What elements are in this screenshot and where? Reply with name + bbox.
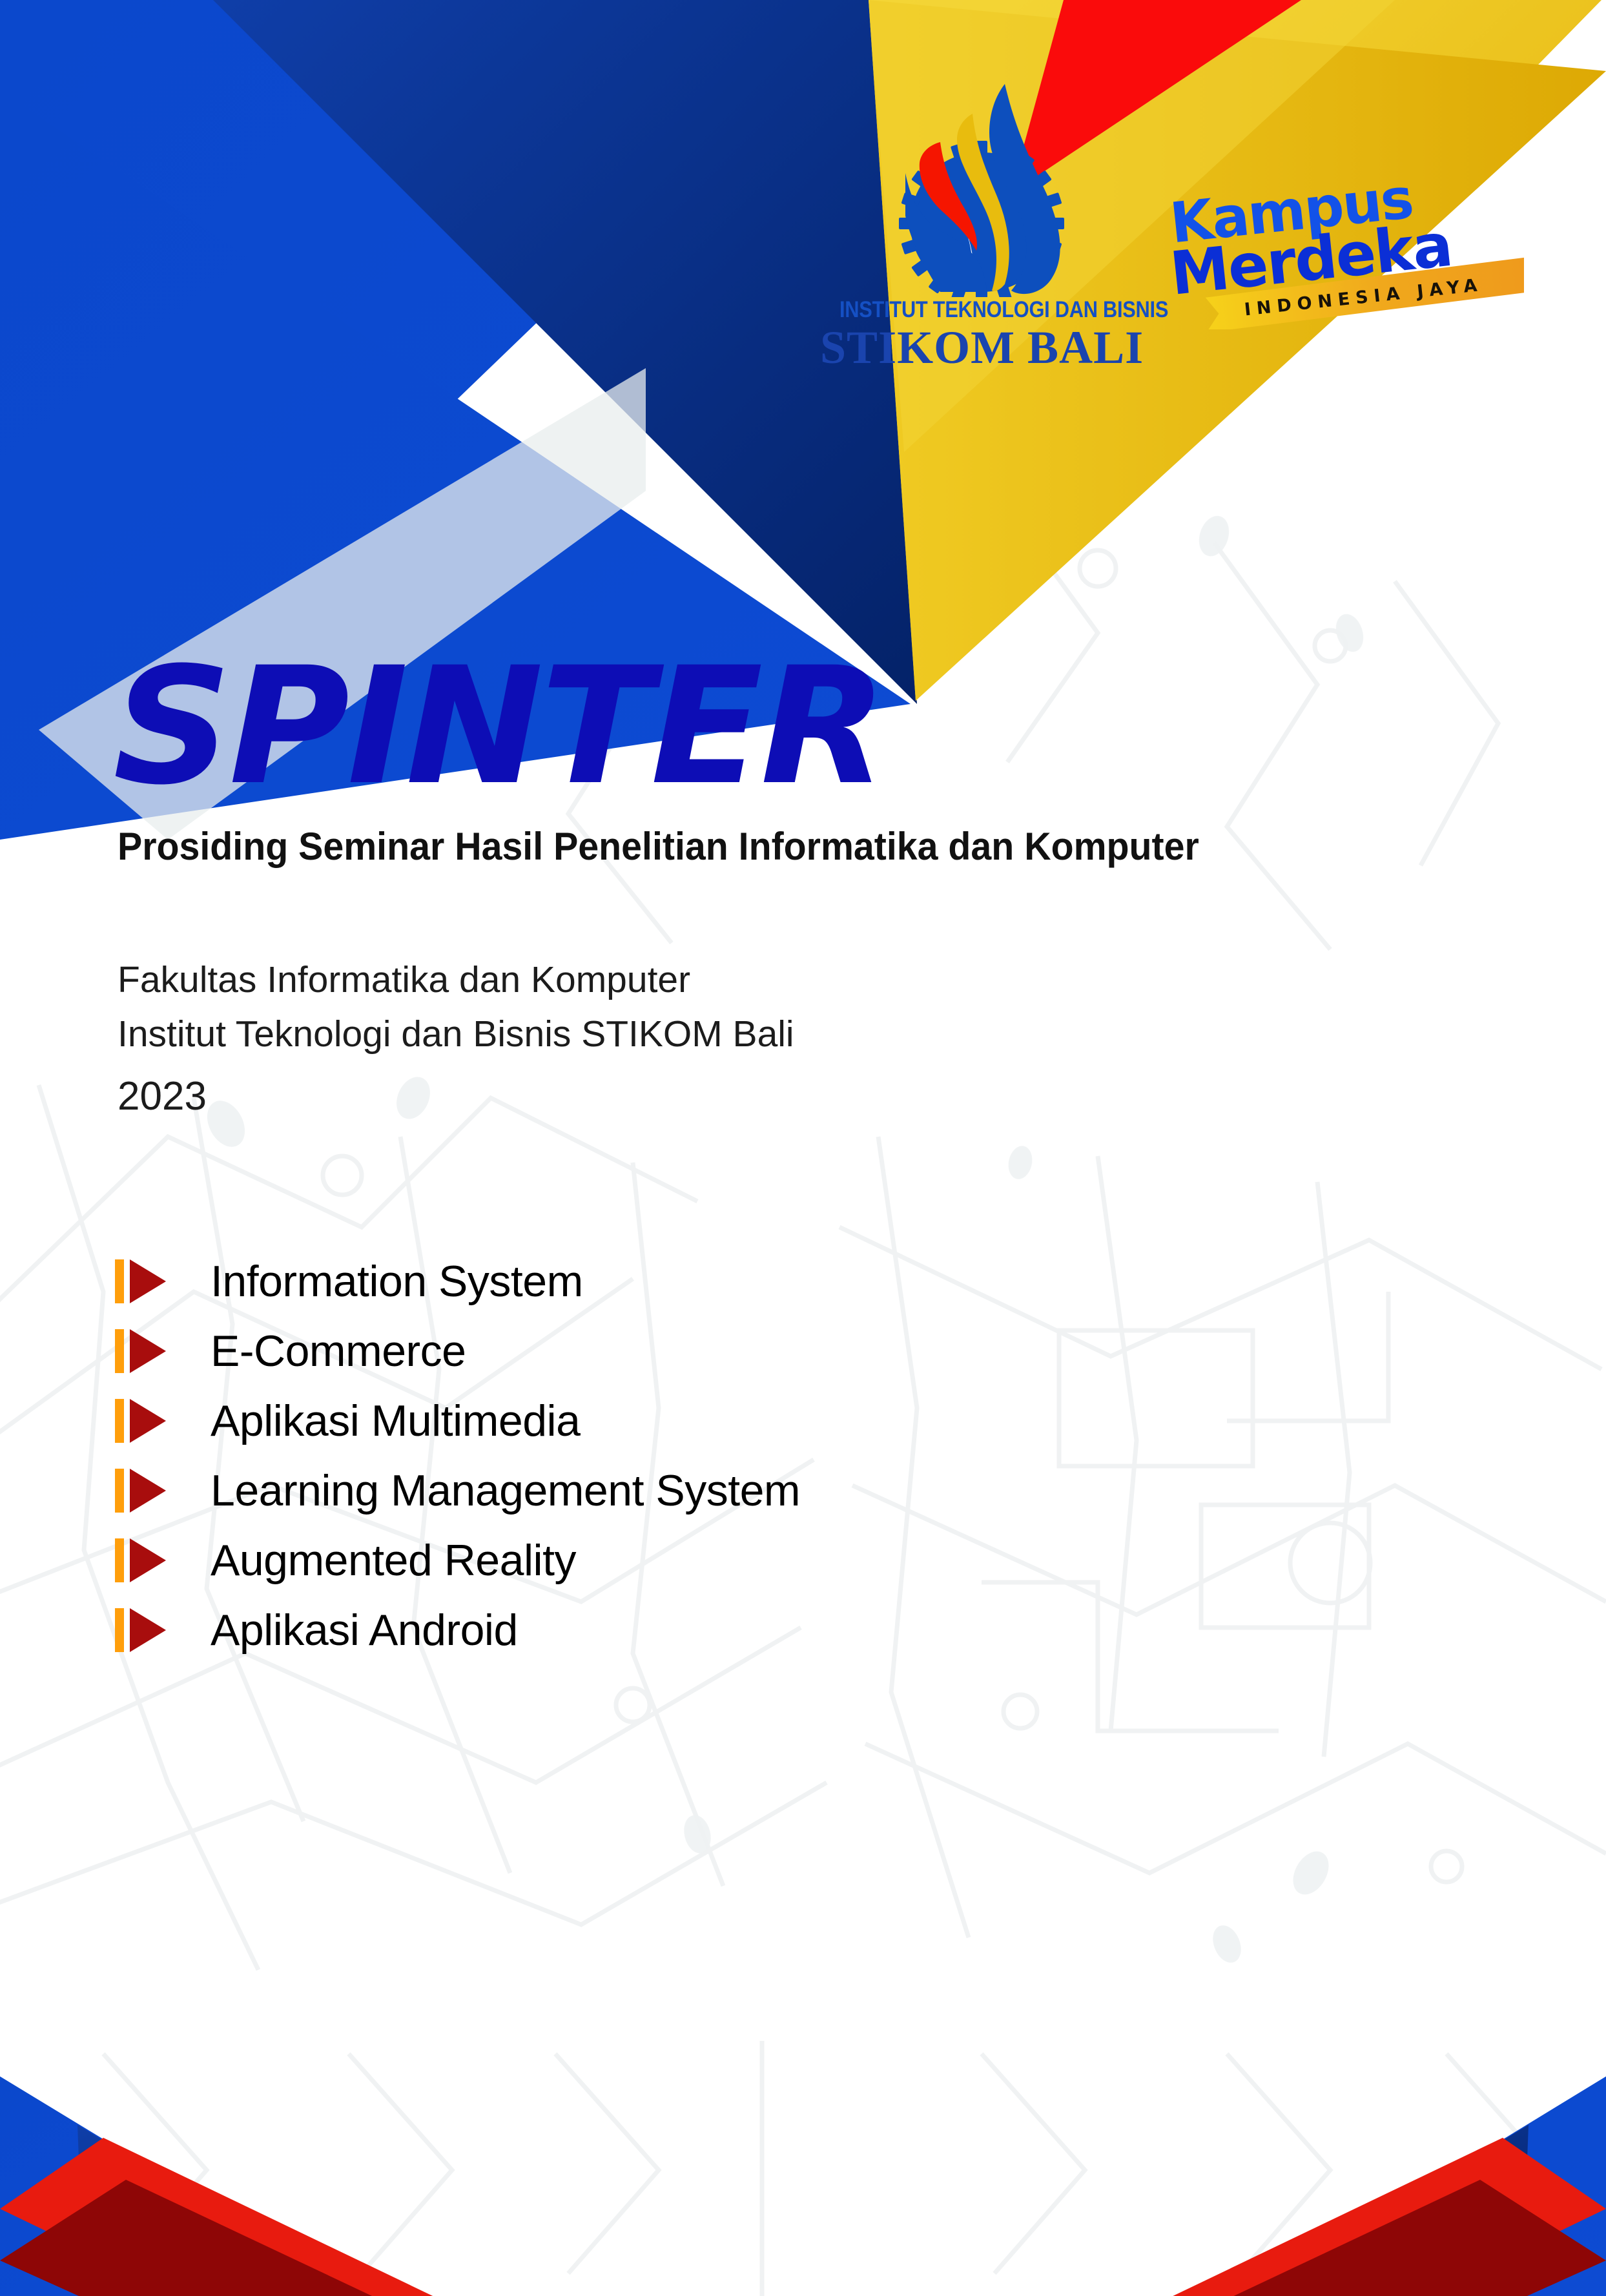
stikom-bali-logo: INSTITUT TEKNOLOGI DAN BISNIS STIKOM BAL… (820, 78, 1143, 375)
page-title: SPINTER (113, 646, 1529, 807)
topic-label: Learning Management System (211, 1465, 800, 1516)
bottom-left-darkblue (77, 2125, 362, 2296)
bottom-darkred-chevron (0, 2180, 1606, 2296)
logo-row: INSTITUT TEKNOLOGI DAN BISNIS STIKOM BAL… (820, 78, 1543, 375)
topic-label: Information System (211, 1256, 583, 1307)
affiliation-block: Fakultas Informatika dan Komputer Instit… (118, 953, 1215, 1126)
top-darkblue-shape (213, 0, 917, 704)
arrow-bullet-icon (115, 1469, 177, 1513)
faculty-line: Fakultas Informatika dan Komputer (118, 959, 690, 1000)
stikom-flame-gear-icon (878, 78, 1085, 297)
cover-page: INSTITUT TEKNOLOGI DAN BISNIS STIKOM BAL… (0, 0, 1606, 2296)
arrow-bullet-icon (115, 1608, 177, 1652)
arrow-bullet-icon (115, 1538, 177, 1582)
list-item: E-Commerce (115, 1316, 1342, 1386)
arrow-bullet-icon (115, 1329, 177, 1373)
topic-label: Aplikasi Multimedia (211, 1396, 580, 1446)
topic-label: E-Commerce (211, 1326, 466, 1376)
arrow-bullet-icon (115, 1399, 177, 1443)
institute-line: Institut Teknologi dan Bisnis STIKOM Bal… (118, 1013, 794, 1055)
title-block: SPINTER Prosiding Seminar Hasil Peneliti… (113, 646, 1501, 868)
stikom-wordmark: INSTITUT TEKNOLOGI DAN BISNIS STIKOM BAL… (820, 298, 1143, 372)
list-item: Augmented Reality (115, 1525, 1342, 1595)
topic-label: Aplikasi Android (211, 1605, 518, 1655)
bottom-right-darkblue (1246, 2125, 1529, 2296)
topic-label: Augmented Reality (211, 1535, 576, 1586)
list-item: Information System (115, 1246, 1342, 1316)
bottom-right-blue (1246, 2076, 1606, 2296)
bottom-left-yellow (152, 2175, 362, 2296)
bottom-left-blue (0, 2076, 362, 2296)
topic-list: Information System E-Commerce Aplikasi M… (115, 1246, 1342, 1665)
bottom-red-chevron (0, 2138, 1606, 2296)
bottom-right-yellow (1246, 2175, 1454, 2296)
list-item: Learning Management System (115, 1456, 1342, 1525)
stikom-institute-line: INSTITUT TEKNOLOGI DAN BISNIS (839, 298, 1124, 322)
page-subtitle: Prosiding Seminar Hasil Penelitian Infor… (118, 825, 1439, 868)
kampus-merdeka-logo: Kampus Merdeka INDONESIA JAYA (1162, 168, 1524, 329)
list-item: Aplikasi Multimedia (115, 1386, 1342, 1456)
bottom-right-yellow-2 (1246, 2209, 1447, 2296)
year-line: 2023 (118, 1067, 1215, 1126)
stikom-name-line: STIKOM BALI (820, 324, 1143, 373)
list-item: Aplikasi Android (115, 1595, 1342, 1665)
arrow-bullet-icon (115, 1259, 177, 1303)
bottom-left-yellow-2 (159, 2209, 362, 2296)
